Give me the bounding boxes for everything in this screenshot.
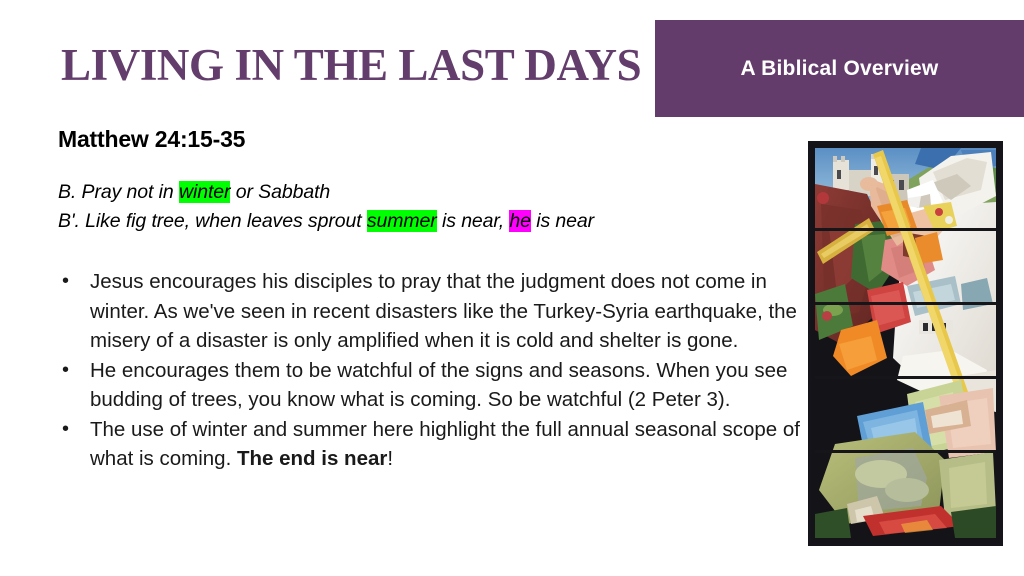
list-item: • He encourages them to be watchful of t…	[58, 356, 803, 415]
subtitle-text: A Biblical Overview	[741, 57, 939, 81]
bullet-text: He encourages them to be watchful of the…	[90, 356, 803, 415]
structure-bp-suffix: is near	[531, 210, 594, 232]
stained-glass-saint-george-image	[808, 141, 1003, 546]
highlight-winter: winter	[179, 181, 230, 203]
slide-title: LIVING IN THE LAST DAYS	[61, 42, 641, 89]
bullet-point-icon: •	[62, 415, 69, 445]
bullet-text-emphasis: The end is near	[237, 447, 387, 470]
stained-glass-artwork	[811, 144, 1000, 543]
bullet-point-icon: •	[62, 356, 69, 386]
structure-bp-prefix: B'. Like fig tree, when leaves sprout	[58, 210, 367, 232]
scripture-reference-heading: Matthew 24:15-35	[58, 126, 245, 153]
list-item: • Jesus encourages his disciples to pray…	[58, 267, 803, 356]
bullet-point-icon: •	[62, 267, 69, 297]
bullet-list: • Jesus encourages his disciples to pray…	[58, 267, 803, 474]
structure-bp-middle: is near,	[437, 210, 510, 232]
slide-canvas: A Biblical Overview LIVING IN THE LAST D…	[0, 0, 1024, 576]
structure-b-prefix: B. Pray not in	[58, 181, 179, 203]
bullet-text: The use of winter and summer here highli…	[90, 415, 803, 474]
highlight-he: he	[509, 210, 531, 232]
subtitle-banner: A Biblical Overview	[655, 20, 1024, 117]
bullet-text-plain: The use of winter and summer here highli…	[90, 418, 800, 471]
bullet-text: Jesus encourages his disciples to pray t…	[90, 267, 803, 356]
list-item: • The use of winter and summer here high…	[58, 415, 803, 474]
bullet-text-trailing: !	[387, 447, 393, 470]
highlight-summer: summer	[367, 210, 437, 232]
structure-block: B. Pray not in winter or Sabbath B'. Lik…	[58, 178, 798, 236]
structure-line-b: B. Pray not in winter or Sabbath	[58, 178, 798, 207]
structure-line-b-prime: B'. Like fig tree, when leaves sprout su…	[58, 207, 798, 236]
structure-b-suffix: or Sabbath	[230, 181, 330, 203]
